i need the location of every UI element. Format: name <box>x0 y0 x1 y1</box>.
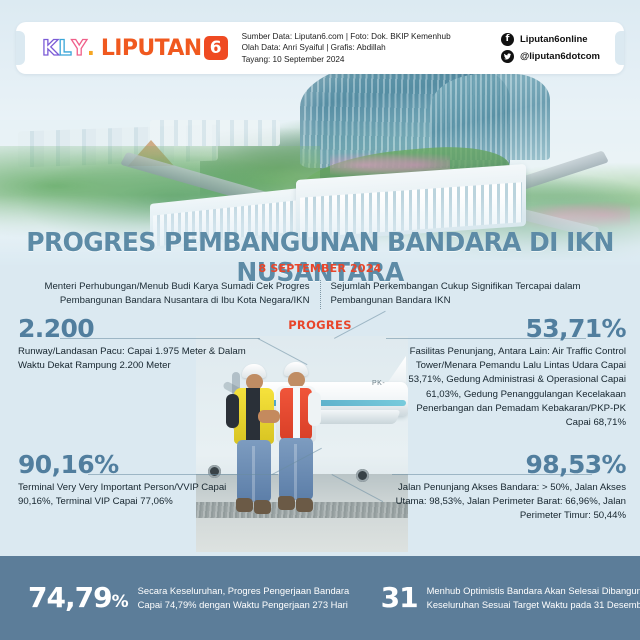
footer-keseluruhan-number: 74,79 <box>28 584 112 612</box>
stat-runway-value: 2.200 <box>18 316 248 341</box>
official-boot-right <box>296 498 313 512</box>
kly-logo-dot: . <box>87 36 94 60</box>
stat-vvip-description: Terminal Very Very Important Person/VVIP… <box>18 481 258 509</box>
kly-logo[interactable]: K L Y . <box>42 36 94 60</box>
report-date: 8 SEPTEMBER 2024 <box>0 262 640 275</box>
social-facebook[interactable]: f Liputan6online <box>501 33 600 46</box>
stat-vvip: 90,16% Terminal Very Very Important Pers… <box>18 452 258 509</box>
official-jeans <box>279 438 313 500</box>
aircraft-registration: PK- <box>372 380 385 387</box>
footer-target-description: Menhub Optimistis Bandara Akan Selesai D… <box>427 584 640 612</box>
footer-item-target: 31 Menhub Optimistis Bandara Akan Selesa… <box>381 584 640 612</box>
stat-jalan-description: Jalan Penunjang Akses Bandara: > 50%, Ja… <box>386 481 626 524</box>
facebook-icon: f <box>501 33 514 46</box>
footer-summary-bar: 74,79 % Secara Keseluruhan, Progres Peng… <box>0 556 640 640</box>
stat-fasilitas: 53,71% Fasilitas Penunjang, Antara Lain:… <box>396 316 626 430</box>
stat-jalan: 98,53% Jalan Penunjang Akses Bandara: > … <box>386 452 626 524</box>
twitter-handle: @liputan6dotcom <box>520 51 600 62</box>
aircraft-main-wheel <box>356 469 369 482</box>
stat-vvip-value: 90,16% <box>18 452 258 477</box>
twitter-icon <box>501 50 514 63</box>
kly-logo-letter-l: L <box>58 36 70 60</box>
header-bar: K L Y . LIPUTAN 6 Sumber Data: Liputan6.… <box>16 22 624 74</box>
official-boot-left <box>278 496 295 510</box>
handshake <box>258 410 280 423</box>
footer-target-number: 31 <box>381 584 418 612</box>
hero-lowrise-buildings-mid <box>150 120 280 146</box>
credits-line-authors: Olah Data: Anri Syaiful | Grafis: Abdill… <box>242 42 451 54</box>
stat-runway: 2.200 Runway/Landasan Pacu: Capai 1.975 … <box>18 316 248 373</box>
stat-runway-description: Runway/Landasan Pacu: Capai 1.975 Meter … <box>18 345 248 373</box>
official-arm <box>308 392 321 426</box>
stat-jalan-value: 98,53% <box>386 452 626 477</box>
lede-right: Sejumlah Perkembangan Cukup Signifikan T… <box>320 280 599 309</box>
facebook-handle: Liputan6online <box>520 34 588 45</box>
page-title: PROGRES PEMBANGUNAN BANDARA DI IKN NUSAN… <box>6 228 633 288</box>
stat-fasilitas-description: Fasilitas Penunjang, Antara Lain: Air Tr… <box>396 345 626 430</box>
credits-line-published: Tayang: 10 September 2024 <box>242 54 451 66</box>
kly-logo-letter-y: Y <box>72 36 86 60</box>
social-links: f Liputan6online @liputan6dotcom <box>501 33 600 63</box>
kly-logo-letter-k: K <box>42 36 57 60</box>
liputan6-badge[interactable]: 6 <box>204 36 228 60</box>
social-twitter[interactable]: @liputan6dotcom <box>501 50 600 63</box>
liputan-wordmark[interactable]: LIPUTAN <box>101 36 202 61</box>
credits-line-source: Sumber Data: Liputan6.com | Foto: Dok. B… <box>242 31 451 43</box>
lede-block: Menteri Perhubungan/Menub Budi Karya Sum… <box>40 280 600 309</box>
footer-item-keseluruhan: 74,79 % Secara Keseluruhan, Progres Peng… <box>28 584 353 612</box>
official-arm <box>226 394 239 428</box>
lede-left: Menteri Perhubungan/Menub Budi Karya Sum… <box>42 280 320 309</box>
footer-keseluruhan-description: Secara Keseluruhan, Progres Pengerjaan B… <box>138 584 353 612</box>
stat-fasilitas-value: 53,71% <box>396 316 626 341</box>
footer-keseluruhan-suffix: % <box>112 594 129 611</box>
infographic-root: K L Y . LIPUTAN 6 Sumber Data: Liputan6.… <box>0 0 640 640</box>
credits-block: Sumber Data: Liputan6.com | Foto: Dok. B… <box>242 31 451 66</box>
